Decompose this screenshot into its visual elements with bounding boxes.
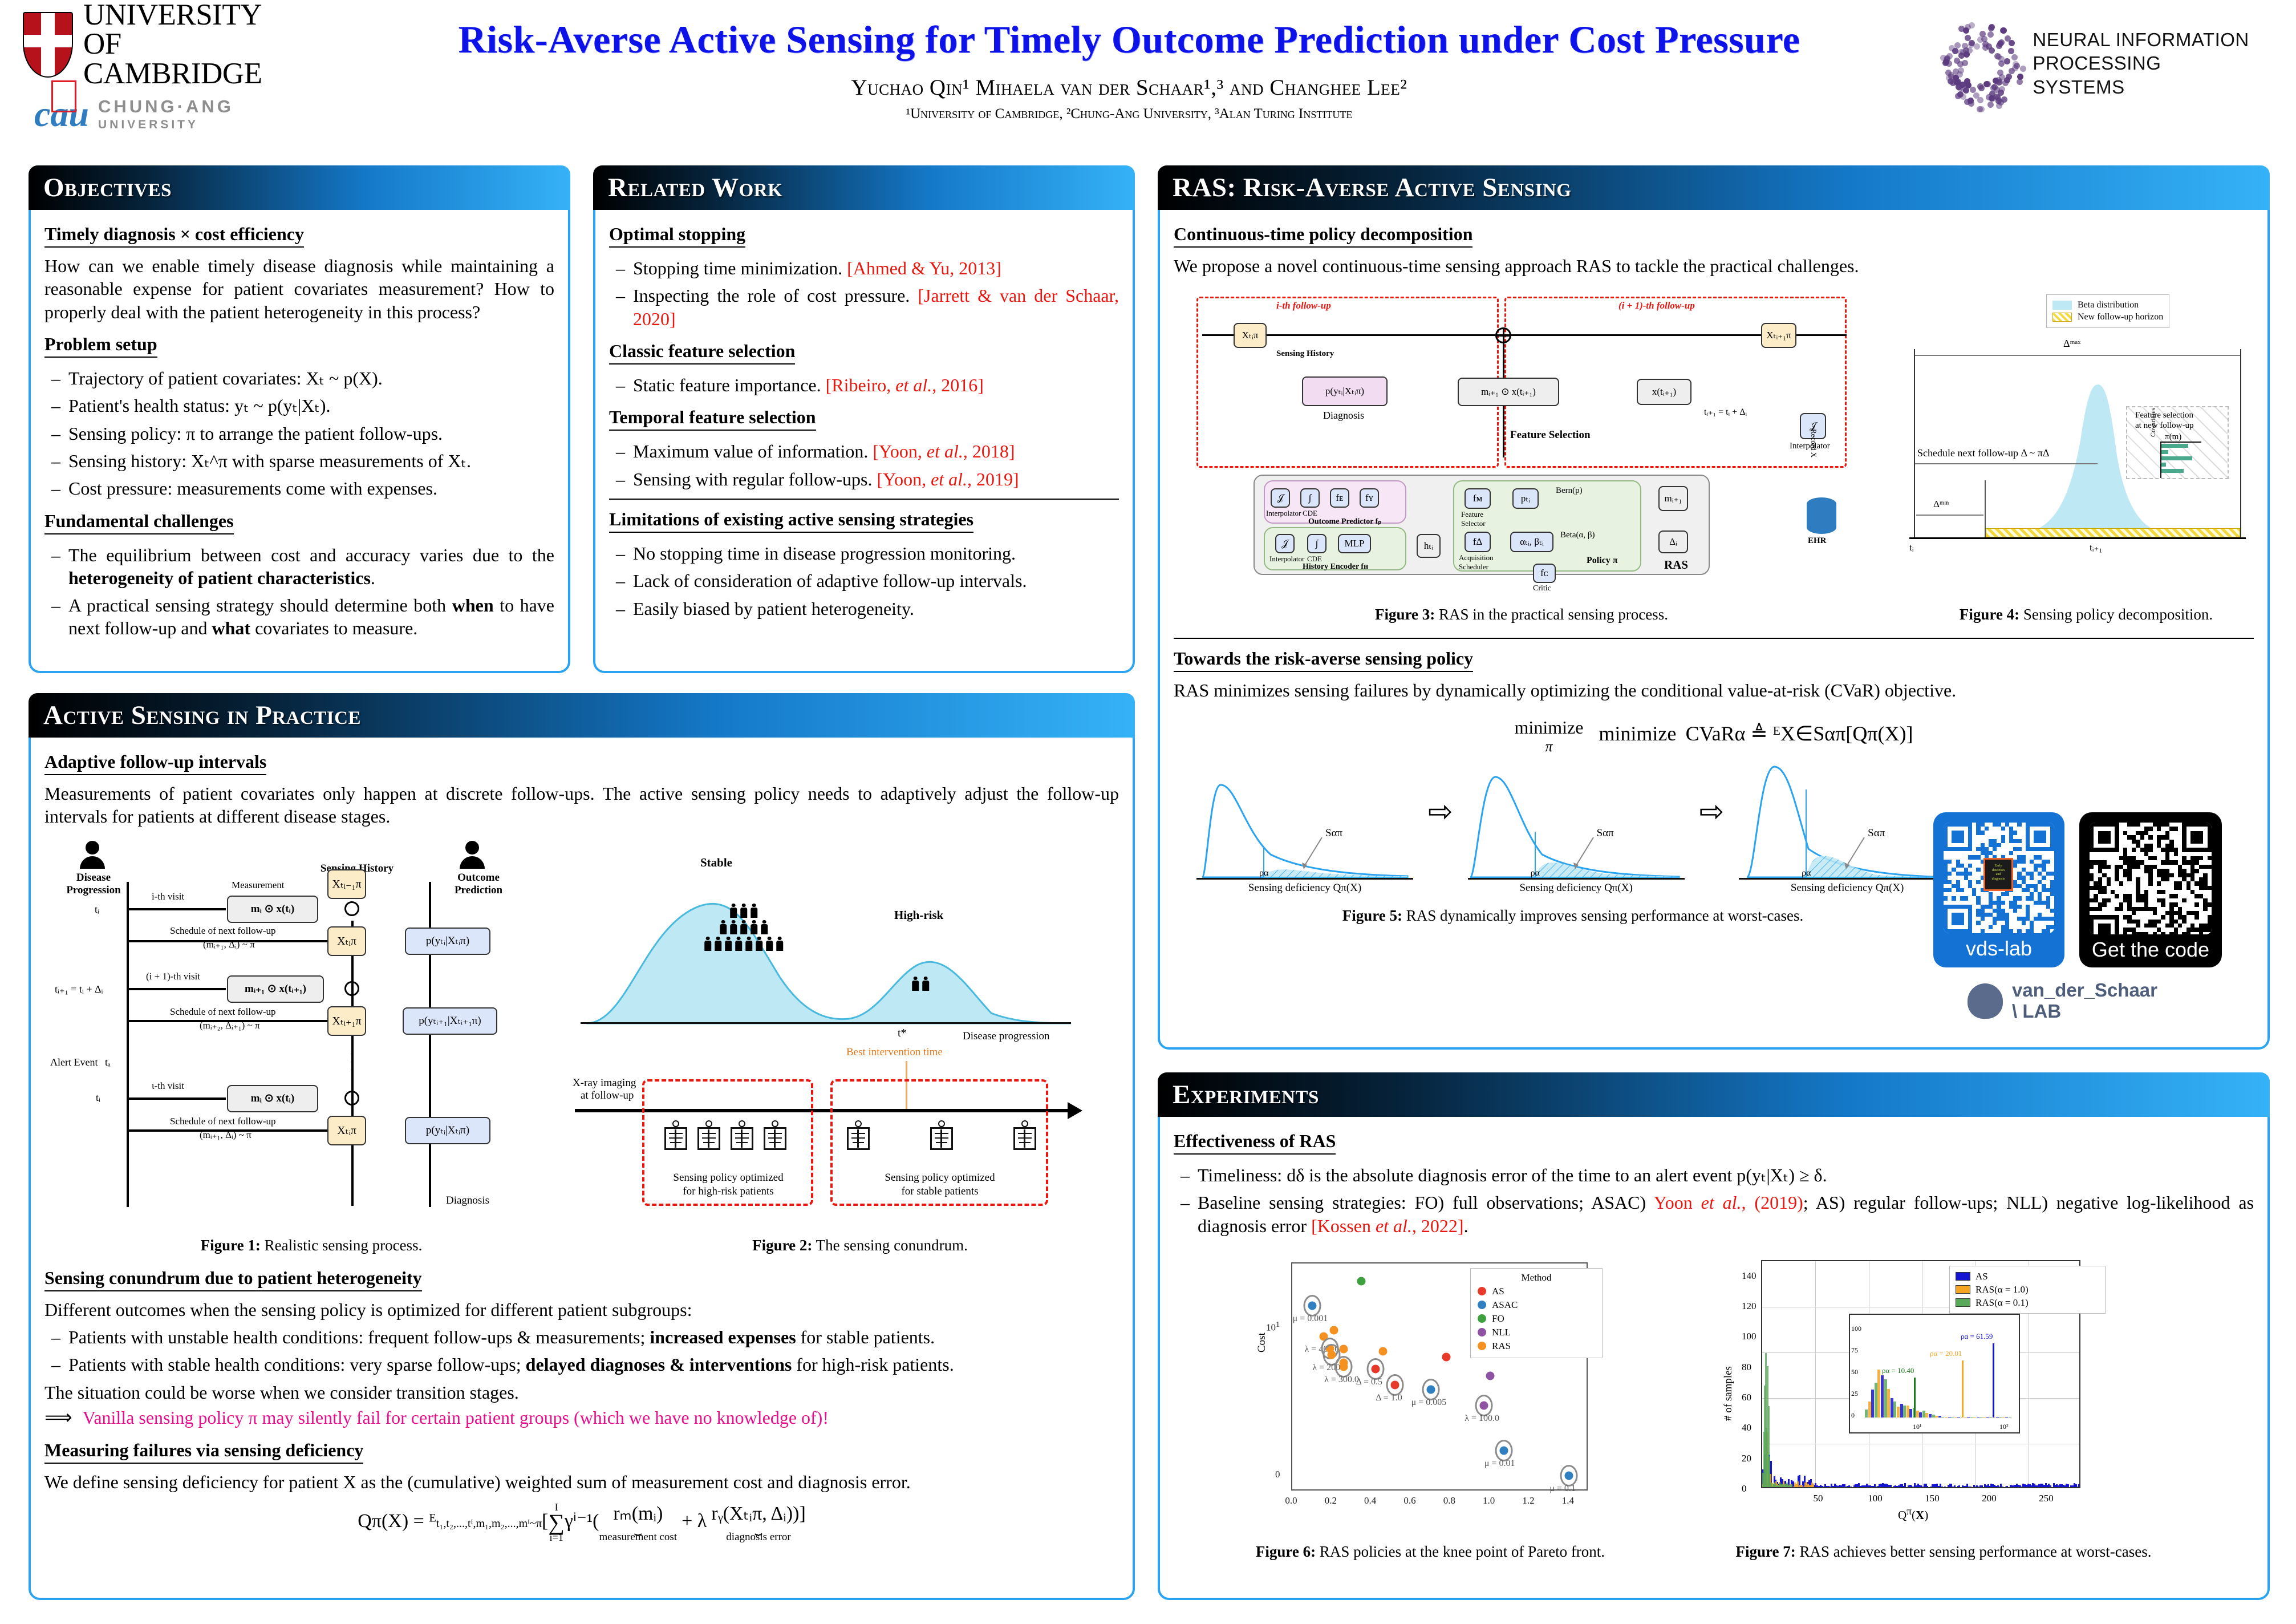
panel-experiments-header: Experiments xyxy=(1158,1072,2270,1117)
txt-bold: increased expenses xyxy=(650,1327,796,1347)
txt: for high-risk patients. xyxy=(792,1354,954,1375)
fig5-curve-2 xyxy=(1462,763,1690,880)
data-point[interactable] xyxy=(1565,1471,1573,1480)
txt: Inspecting the role of cost pressure. xyxy=(633,285,918,306)
fig3-node-delta-i: Δᵢ xyxy=(1658,530,1688,553)
list-item: Cost pressure: measurements come with ex… xyxy=(44,477,554,500)
fig1-schedule-arrow-2 xyxy=(129,1020,327,1022)
fig1-visit-iota-label: ι-th visit xyxy=(152,1080,184,1092)
fig4-fs-line2: at new follow-up xyxy=(2135,421,2193,431)
y-tick-label: 0 xyxy=(1275,1469,1280,1480)
citation: , 2019] xyxy=(967,469,1019,489)
fig3-node-fe: fᴇ xyxy=(1330,488,1349,508)
citation: , 2018] xyxy=(963,441,1015,461)
objectives-body-1: How can we enable timely disease diagnos… xyxy=(44,254,554,323)
cambridge-line2: CAMBRIDGE xyxy=(83,59,297,88)
neurips-logo: NEURAL INFORMATION PROCESSING SYSTEMS xyxy=(1937,21,2256,106)
practice-warning-line: ⟹ Vanilla sensing policy π may silently … xyxy=(44,1406,1119,1431)
figure-7-xlabel: Qπ(X) xyxy=(1898,1505,1928,1522)
fig1-prediction-box-1: p(yₜᵢ|Xₜᵢπ) xyxy=(405,928,490,955)
cau-mark-icon: cau xyxy=(34,93,89,135)
citation: , (2019) xyxy=(1742,1192,1803,1213)
x-tick-label: 1.2 xyxy=(1522,1495,1534,1506)
experiments-list: Timeliness: dδ is the absolute diagnosis… xyxy=(1174,1164,2254,1237)
formula-measurement-brace-label: measurement cost xyxy=(599,1531,677,1544)
citation-etal: et al. xyxy=(1376,1216,1412,1236)
point-annotation: λ = 100.0 xyxy=(1465,1414,1499,1424)
fig4-bar xyxy=(2161,450,2168,454)
experiments-sub-1: Effectiveness of RAS xyxy=(1174,1131,1336,1155)
fig3-label-i1: (i + 1)-th follow-up xyxy=(1618,300,1695,311)
txt: Stopping time minimization. xyxy=(633,258,847,278)
objectives-list-setup: Trajectory of patient covariates: Xₜ ~ p… xyxy=(44,367,554,500)
fig4-caption-bold: Figure 4: xyxy=(1960,606,2019,623)
fig4-legend-beta-label: Beta distribution xyxy=(2078,300,2139,310)
fig7-caption-text: RAS achieves better sensing performance … xyxy=(1796,1543,2152,1560)
vds-lab-branding: van_der_Schaar \ LAB xyxy=(1933,980,2253,1022)
fig5-caption-bold: Figure 5: xyxy=(1342,907,1402,924)
fig2-xray-group-2 xyxy=(842,1120,1041,1153)
citation-etal: et al. xyxy=(931,469,967,489)
fig3-interpolator-op-label: Interpolator xyxy=(1266,509,1301,518)
legend-row[interactable]: RAS(α = 1.0) xyxy=(1956,1284,2099,1295)
fig2-axis xyxy=(581,1022,1071,1024)
fig1-vertical-ellipsis: ... xyxy=(350,1046,354,1071)
fig1-measurement-box-3: mᵢ ⊙ x(tᵢ) xyxy=(227,1085,318,1112)
neurips-wordmark: NEURAL INFORMATION PROCESSING SYSTEMS xyxy=(2033,28,2256,99)
citation: Yoon xyxy=(1654,1192,1701,1213)
list-item: Patients with unstable health conditions… xyxy=(44,1326,1119,1348)
qr-get-code[interactable]: Get the code xyxy=(2079,812,2222,967)
fig5-curve-3 xyxy=(1733,763,1961,880)
inset-x-tick: 10¹ xyxy=(1913,1423,1922,1431)
list-item: Trajectory of patient covariates: Xₜ ~ p… xyxy=(44,367,554,390)
fig1-prediction-box-3: p(yₜᵢ|Xₜᵢπ) xyxy=(405,1117,490,1144)
formula-lhs: Qπ(X) = ᴱ xyxy=(358,1510,436,1532)
fig4-pi-m-label: π(m) xyxy=(2165,432,2181,442)
x-tick-label: 0.0 xyxy=(1285,1495,1297,1506)
txt: . xyxy=(1464,1216,1469,1236)
list-item: Baseline sensing strategies: FO) full ob… xyxy=(1174,1191,2254,1237)
objectives-sub-2: Problem setup xyxy=(44,334,157,358)
fig5-axis-3 xyxy=(1739,878,1956,880)
cau-logo: cau CHUNG·ANG UNIVERSITY xyxy=(34,86,302,143)
page-title: Risk-Averse Active Sensing for Timely Ou… xyxy=(365,17,1893,62)
fig1-schedule-arrow-1 xyxy=(129,940,327,942)
fig5-panel-1: ρα Sαπ Sensing deficiency Qπ(X) xyxy=(1191,763,1419,894)
legend-swatch-icon xyxy=(1478,1342,1486,1350)
legend-row[interactable]: NLL xyxy=(1478,1327,1595,1338)
txt: Sensing with regular follow-ups. xyxy=(633,469,877,489)
x-tick-label: 100 xyxy=(1868,1493,1883,1504)
legend-row[interactable]: RAS xyxy=(1478,1340,1595,1352)
fig4-bar xyxy=(2161,469,2184,473)
panel-ras-title: RAS: Risk-Averse Active Sensing xyxy=(1173,172,1571,203)
related-sub-1: Optimal stopping xyxy=(609,224,745,248)
y-tick-label: 0 xyxy=(1742,1483,1747,1495)
fig3-ehr-label: EHR xyxy=(1808,536,1827,546)
fig3-node-mlp: MLP xyxy=(1338,534,1371,553)
figure-7-ylabel: # of samples xyxy=(1722,1366,1735,1421)
practice-figure-captions: Figure 1: Realistic sensing process. Fig… xyxy=(44,1234,1119,1259)
divider xyxy=(1174,638,2254,639)
panel-objectives-header: Objectives xyxy=(29,165,570,210)
fig5-xlabel-1: Sensing deficiency Qπ(X) xyxy=(1191,882,1419,894)
fig3-node-cde-he: ∫ xyxy=(1307,534,1327,553)
data-point[interactable] xyxy=(1329,1326,1338,1335)
fig1-caption-text: Realistic sensing process. xyxy=(261,1237,422,1254)
point-annotation: μ = 0.1 xyxy=(1549,1484,1576,1494)
fig2-disease-progression-label: Disease progression xyxy=(963,1030,1050,1043)
legend-swatch-icon xyxy=(1478,1328,1486,1337)
fig4-legend-row-horizon: New follow-up horizon xyxy=(2052,312,2163,322)
fig4-dmax-arrow xyxy=(1915,355,2240,356)
fig2-box1-line2: for high-risk patients xyxy=(654,1185,803,1198)
txt: Baseline sensing strategies: FO) full ob… xyxy=(1198,1192,1654,1213)
citation-etal: et al. xyxy=(927,441,963,461)
fig1-history-box-3: Xₜᵢπ xyxy=(327,1116,366,1145)
vds-lab-wordmark: van_der_Schaar \ LAB xyxy=(2012,980,2157,1022)
qr-block: Earlydetectionanddiagnosis vds-lab Get t… xyxy=(1933,812,2253,1022)
list-item: Stopping time minimization. [Ahmed & Yu,… xyxy=(609,257,1119,280)
data-point[interactable] xyxy=(1442,1352,1451,1361)
list-item: Sensing history: Xₜ^π with sparse measur… xyxy=(44,449,554,472)
point-annotation: μ = 0.005 xyxy=(1411,1398,1447,1408)
y-tick-label: 100 xyxy=(1742,1331,1757,1342)
fig4-bar-top-axis xyxy=(2160,442,2201,443)
practice-sub-2: Sensing conundrum due to patient heterog… xyxy=(44,1267,422,1291)
fig1-history-box-1: Xₜᵢπ xyxy=(327,926,366,956)
fig1-visit-i1-label: (i + 1)-th visit xyxy=(146,971,200,982)
figure-3-caption: Figure 3: RAS in the practical sensing p… xyxy=(1191,606,1852,623)
formula-mid: + λ xyxy=(682,1510,707,1532)
cau-wordmark: CHUNG·ANG UNIVERSITY xyxy=(98,96,234,133)
list-item: Inspecting the role of cost pressure. [J… xyxy=(609,284,1119,330)
qr-vds-lab[interactable]: Earlydetectionanddiagnosis vds-lab xyxy=(1933,812,2064,967)
fig1-arrow-visit-2 xyxy=(129,988,226,990)
x-tick-label: 200 xyxy=(1982,1493,1997,1504)
inset-y-tick: 100 xyxy=(1851,1325,1861,1333)
neurips-line1: NEURAL INFORMATION xyxy=(2033,28,2256,51)
citation: [Yoon, xyxy=(873,441,927,461)
fig2-box2-line1: Sensing policy optimized xyxy=(843,1172,1037,1184)
panel-experiments: Experiments Effectiveness of RAS Timelin… xyxy=(1158,1072,2270,1600)
panel-practice-title: Active Sensing in Practice xyxy=(43,700,361,731)
fig4-bar xyxy=(2161,456,2192,460)
vds-lab-line2: \ LAB xyxy=(2012,1001,2157,1022)
fig4-covariates-label: Covariates xyxy=(2149,408,2157,437)
panel-related-work: Related Work Optimal stopping Stopping t… xyxy=(593,165,1135,673)
fig2-best-intervention-label: Best intervention time xyxy=(846,1046,943,1059)
fig5-rho-2: ρα xyxy=(1531,868,1540,878)
fig7-caption-bold: Figure 7: xyxy=(1735,1543,1795,1560)
objectives-sub-1: Timely diagnosis × cost efficiency xyxy=(44,224,304,248)
fig3-t-update-label: tᵢ₊₁ = tᵢ + Δᵢ xyxy=(1704,406,1747,418)
fig1-visit-i-label: i-th visit xyxy=(152,891,184,902)
citation: , 2022] xyxy=(1412,1216,1464,1236)
citation: , 2016] xyxy=(932,375,984,395)
fig4-x-axis xyxy=(1909,537,2246,539)
fig1-measurement-box-2: mᵢ₊₁ ⊙ x(tᵢ₊₁) xyxy=(227,975,324,1003)
citation-etal: et al. xyxy=(895,375,932,395)
legend-label: ASAC xyxy=(1492,1299,1518,1311)
formula-sum-lower: i=1 xyxy=(548,1532,565,1544)
fig3-node-x-t1: x(tᵢ₊₁) xyxy=(1637,379,1691,405)
fig2-timeline-arrowhead-icon xyxy=(1068,1102,1082,1119)
fig3-node-x-ti: Xₜᵢπ xyxy=(1234,323,1267,348)
x-tick-label: 250 xyxy=(2039,1493,2054,1504)
data-point[interactable] xyxy=(1340,1362,1348,1371)
fig3-node-m-i1: mᵢ₊₁ xyxy=(1658,486,1688,511)
related-list-2: Static feature importance. [Ribeiro, et … xyxy=(609,374,1119,396)
fig4-feature-selection-inset: Feature selection at new follow-up π(m) … xyxy=(2126,406,2229,479)
cambridge-logo: UNIVERSITY OF CAMBRIDGE xyxy=(23,8,297,81)
data-point[interactable] xyxy=(1328,1351,1336,1359)
fig4-legend: Beta distribution New follow-up horizon xyxy=(2046,294,2169,328)
fig3-interpolator-he-label: Interpolator xyxy=(1269,554,1304,564)
data-point[interactable] xyxy=(1426,1386,1435,1394)
cambridge-wordmark: UNIVERSITY OF CAMBRIDGE xyxy=(83,1,297,88)
fig3-node-fdelta: fΔ xyxy=(1465,532,1491,552)
fig3-sensing-history-label: Sensing History xyxy=(1276,349,1334,359)
legend-row[interactable]: RAS(α = 0.1) xyxy=(1956,1297,2099,1309)
fig3-node-fm: fᴍ xyxy=(1465,488,1491,509)
inset-y-tick: 25 xyxy=(1851,1390,1858,1398)
fig1-arrow-visit-1 xyxy=(129,908,226,910)
figure-7-caption: Figure 7: RAS achieves better sensing pe… xyxy=(1687,1543,2200,1561)
txt-bold: when xyxy=(452,595,494,615)
related-list-1: Stopping time minimization. [Ahmed & Yu,… xyxy=(609,257,1119,330)
fig2-stable-population-icon xyxy=(703,904,785,953)
legend-row[interactable]: AS xyxy=(1478,1286,1595,1297)
y-tick-label: 140 xyxy=(1742,1270,1757,1282)
fig3-node-alpha-beta: αₜᵢ, βₜᵢ xyxy=(1510,532,1553,552)
fig5-curve-1 xyxy=(1191,763,1419,880)
figure-1: Disease Progression Outcome Prediction S… xyxy=(60,841,562,1206)
figure-6-caption: Figure 6: RAS policies at the knee point… xyxy=(1214,1543,1647,1561)
fig1-ti-label: tᵢ xyxy=(95,904,99,916)
y-tick-label: 120 xyxy=(1742,1301,1757,1312)
rho-annotation: ρα = 10.40 xyxy=(1882,1366,1914,1375)
title-block: Risk-Averse Active Sensing for Timely Ou… xyxy=(365,17,1893,122)
point-annotation: Δ = 0.5 xyxy=(1356,1377,1382,1387)
figure-captions-row-1: Figure 3: RAS in the practical sensing p… xyxy=(1174,604,2254,630)
legend-row[interactable]: ASAC xyxy=(1478,1299,1595,1311)
fig3-bern-label: Bern(p) xyxy=(1556,486,1583,496)
neurips-line2: PROCESSING SYSTEMS xyxy=(2033,51,2256,99)
formula-gamma: γⁱ⁻¹( xyxy=(565,1510,599,1532)
fig2-box2-line2: for stable patients xyxy=(843,1185,1037,1198)
txt: A practical sensing strategy should dete… xyxy=(68,595,452,615)
data-point[interactable] xyxy=(1357,1277,1366,1286)
qr-vds-lab-code-icon[interactable]: Earlydetectionanddiagnosis xyxy=(1944,823,2054,933)
practice-body-3: We define sensing deficiency for patient… xyxy=(44,1471,1119,1493)
practice-sub-3: Measuring failures via sensing deficienc… xyxy=(44,1440,363,1464)
list-item: Maximum value of information. [Yoon, et … xyxy=(609,440,1119,463)
txt: The equilibrium between cost and accurac… xyxy=(68,545,554,565)
fig1-ti1-label: tᵢ₊₁ = tᵢ + Δᵢ xyxy=(55,983,103,995)
fig3-ras-label: RAS xyxy=(1664,558,1688,572)
qr-vds-lab-label: vds-lab xyxy=(1944,933,2054,963)
fig4-ti-tick: tᵢ xyxy=(1909,542,1914,553)
formula-diagnosis-brace-label: diagnosis error xyxy=(711,1531,805,1544)
fig3-ehr-database-icon xyxy=(1807,497,1836,534)
point-annotation: μ = 0.001 xyxy=(1293,1314,1328,1324)
data-point[interactable] xyxy=(1486,1371,1494,1380)
fig3-acq-scheduler-label: Acquisition Scheduler xyxy=(1459,553,1496,572)
panel-objectives-title: Objectives xyxy=(43,172,172,203)
cvar-formula: minimize π minimize CVaRα ≜ ᴱX∈Sαπ[Qπ(X)… xyxy=(1174,717,2254,755)
beta-swatch-icon xyxy=(2052,301,2072,310)
experiments-charts-row: μ = 0.001λ = 400.0λ = 200.0λ = 300.0Δ = … xyxy=(1174,1244,2254,1541)
related-sub-4: Limitations of existing active sensing s… xyxy=(609,509,973,533)
legend-label: NLL xyxy=(1492,1327,1511,1338)
ras-body-1: We propose a novel continuous-time sensi… xyxy=(1174,254,2254,277)
legend-title: Method xyxy=(1478,1272,1595,1283)
legend-swatch-icon xyxy=(1478,1314,1486,1323)
fig4-ti1-tick: tᵢ₊₁ xyxy=(2090,542,2102,553)
txt: Patients with stable health conditions: … xyxy=(68,1354,526,1375)
legend-row[interactable]: FO xyxy=(1478,1313,1595,1325)
panel-practice-header: Active Sensing in Practice xyxy=(29,693,1135,738)
fig4-fs-line1: Feature selection xyxy=(2135,411,2193,420)
fig3-node-x-ti1: Xₜᵢ₊₁π xyxy=(1761,323,1796,348)
fig4-bar xyxy=(2161,444,2188,448)
fig3-caption-bold: Figure 3: xyxy=(1375,606,1435,623)
fig5-rho-3: ρα xyxy=(1802,868,1811,878)
legend-row[interactable]: AS xyxy=(1956,1271,2099,1282)
figure-7-inset: ρα = 10.40ρα = 20.01ρα = 61.590255075100… xyxy=(1849,1314,2020,1433)
txt: Static feature importance. xyxy=(633,375,826,395)
related-sub-2: Classic feature selection xyxy=(609,341,795,365)
fig3-node-m-odot-x: mᵢ₊₁ ⊙ x(tᵢ₊₁) xyxy=(1458,378,1559,406)
practice-sub-1: Adaptive follow-up intervals xyxy=(44,751,266,775)
formula-subscript: t₁,t₂,...,tᴵ,m₁,m₂,...,mᴵ~π xyxy=(436,1517,542,1530)
data-point[interactable] xyxy=(1308,1301,1316,1310)
fig5-arrow-1-icon: ⇨ xyxy=(1428,795,1453,863)
list-item: The equilibrium between cost and accurac… xyxy=(44,544,554,590)
warning-arrow-icon: ⟹ xyxy=(44,1407,72,1428)
practice-figures-row: Disease Progression Outcome Prediction S… xyxy=(44,835,1119,1234)
y-tick-label: 60 xyxy=(1742,1392,1751,1403)
fig3-critic-label: Critic xyxy=(1533,584,1551,593)
fig3-node-p-ti: pₜᵢ xyxy=(1512,488,1539,509)
x-tick-label: 1.4 xyxy=(1562,1495,1574,1506)
fig5-panel-2: ρα Sαπ Sensing deficiency Qπ(X) xyxy=(1462,763,1690,894)
fig1-disease-progression-label: Disease Progression xyxy=(60,872,127,897)
list-item: Static feature importance. [Ribeiro, et … xyxy=(609,374,1119,396)
poster-header: UNIVERSITY OF CAMBRIDGE cau CHUNG·ANG UN… xyxy=(0,0,2296,154)
fig3-beta-label: Beta(α, β) xyxy=(1560,530,1595,540)
panel-objectives: Objectives Timely diagnosis × cost effic… xyxy=(29,165,570,673)
fig1-schedule-label-3: Schedule of next follow-up xyxy=(170,1116,276,1127)
fig1-diagnosis-label: Diagnosis xyxy=(446,1194,489,1207)
fig3-node-interp-he: 𝒥 xyxy=(1275,534,1295,553)
inset-y-tick: 50 xyxy=(1851,1368,1858,1376)
cau-line2: UNIVERSITY xyxy=(98,118,234,132)
fig5-xlabel-3: Sensing deficiency Qπ(X) xyxy=(1733,882,1961,894)
fig3-node-diagnosis-prob: p(yₜᵢ|Xₜᵢπ) xyxy=(1302,376,1388,406)
figure-1-caption: Figure 1: Realistic sensing process. xyxy=(60,1237,562,1254)
rho-line xyxy=(1993,1343,1994,1418)
formula-sum-sign: ∑ xyxy=(548,1513,565,1532)
fig4-dmin-label: Δᵐᶦⁿ xyxy=(1933,499,1949,510)
x-tick-label: 150 xyxy=(1925,1493,1940,1504)
experiments-figure-captions: Figure 6: RAS policies at the knee point… xyxy=(1174,1541,2254,1566)
legend-label: RAS xyxy=(1492,1340,1511,1352)
data-point[interactable] xyxy=(1371,1364,1380,1373)
data-point[interactable] xyxy=(1480,1401,1488,1410)
fig2-xray-label-1: X-ray imaging xyxy=(573,1077,636,1090)
practice-list-subgroups: Patients with unstable health conditions… xyxy=(44,1326,1119,1376)
cvar-expression: minimize CVaRα ≜ ᴱX∈Sαπ[Qπ(X)] xyxy=(1599,722,1913,745)
fig2-tstar-label: t* xyxy=(898,1027,907,1040)
fig2-highrisk-population-icon xyxy=(910,977,931,994)
fig4-caption-text: Sensing policy decomposition. xyxy=(2019,606,2213,623)
txt: covariates to measure. xyxy=(250,618,417,638)
x-tick-label: 0.8 xyxy=(1443,1495,1455,1506)
legend-swatch-icon xyxy=(1956,1272,1970,1281)
vds-lab-line1: van_der_Schaar xyxy=(2012,980,2157,1001)
horizon-swatch-icon xyxy=(2052,313,2072,322)
panel-ras: RAS: Risk-Averse Active Sensing Continuo… xyxy=(1158,165,2270,1050)
list-item: Patients with stable health conditions: … xyxy=(44,1353,1119,1376)
data-point[interactable] xyxy=(1391,1381,1399,1390)
fig5-xlabel-2: Sensing deficiency Qπ(X) xyxy=(1462,882,1690,894)
x-tick-label: 50 xyxy=(1814,1493,1823,1504)
data-point[interactable] xyxy=(1340,1344,1348,1353)
fig1-schedule-arrow-3 xyxy=(129,1129,327,1132)
ras-sub-2: Towards the risk-averse sensing policy xyxy=(1174,648,1473,672)
figure-4: Beta distribution New follow-up horizon xyxy=(1875,292,2296,577)
figure-7-legend: ASRAS(α = 1.0)RAS(α = 0.1) xyxy=(1949,1266,2106,1314)
figure-6-chart: μ = 0.001λ = 400.0λ = 200.0λ = 300.0Δ = … xyxy=(1242,1250,1607,1529)
data-point[interactable] xyxy=(1379,1347,1388,1356)
data-point[interactable] xyxy=(1499,1446,1508,1455)
citation: [Ribeiro, xyxy=(826,375,896,395)
related-list-4: No stopping time in disease progression … xyxy=(609,542,1119,620)
list-item: No stopping time in disease progression … xyxy=(609,542,1119,565)
fig1-history-box-0: Xₜᵢ₋₁π xyxy=(327,869,366,899)
clinician-icon xyxy=(460,841,485,868)
list-item: A practical sensing strategy should dete… xyxy=(44,594,554,640)
y-tick-label: 80 xyxy=(1742,1362,1751,1373)
sensing-deficiency-formula: Qπ(X) = ᴱt₁,t₂,...,tᴵ,m₁,m₂,...,mᴵ~π[ I … xyxy=(44,1501,1119,1544)
list-item: Timeliness: dδ is the absolute diagnosis… xyxy=(1174,1164,2254,1186)
citation-etal: et al. xyxy=(1701,1192,1742,1213)
legend-swatch-icon xyxy=(1956,1285,1970,1294)
legend-swatch-icon xyxy=(1956,1298,1970,1307)
objectives-sub-3: Fundamental challenges xyxy=(44,511,234,534)
authors: Yuchao Qin¹ Mihaela van der Schaar¹,³ an… xyxy=(365,75,1893,100)
figure-3: i-th follow-up (i + 1)-th follow-up Xₜᵢπ… xyxy=(1191,292,1852,577)
panel-practice: Active Sensing in Practice Adaptive foll… xyxy=(29,693,1135,1600)
x-tick-label: 0.6 xyxy=(1403,1495,1415,1506)
fig3-node-fc: fᴄ xyxy=(1533,564,1556,583)
fig3-node-fy: fʏ xyxy=(1360,488,1379,508)
related-list-3: Maximum value of information. [Yoon, et … xyxy=(609,440,1119,491)
qr-get-code-icon[interactable] xyxy=(2090,823,2212,934)
txt-bold: what xyxy=(212,618,251,638)
fig1-measurement-box-1: mᵢ ⊙ x(tᵢ) xyxy=(227,896,318,923)
fig5-axis-2 xyxy=(1468,878,1685,880)
fig1-prediction-box-2: p(yₜᵢ₊₁|Xₜᵢ₊₁π) xyxy=(403,1007,497,1035)
fig5-arrow-2-icon: ⇨ xyxy=(1699,795,1725,863)
fig3-node-h-ti: hₜᵢ xyxy=(1417,534,1441,558)
fig3-feature-selection-label: Feature Selection xyxy=(1510,429,1591,442)
legend-label: RAS(α = 1.0) xyxy=(1975,1284,2029,1295)
x-tick-label: 0.4 xyxy=(1364,1495,1376,1506)
